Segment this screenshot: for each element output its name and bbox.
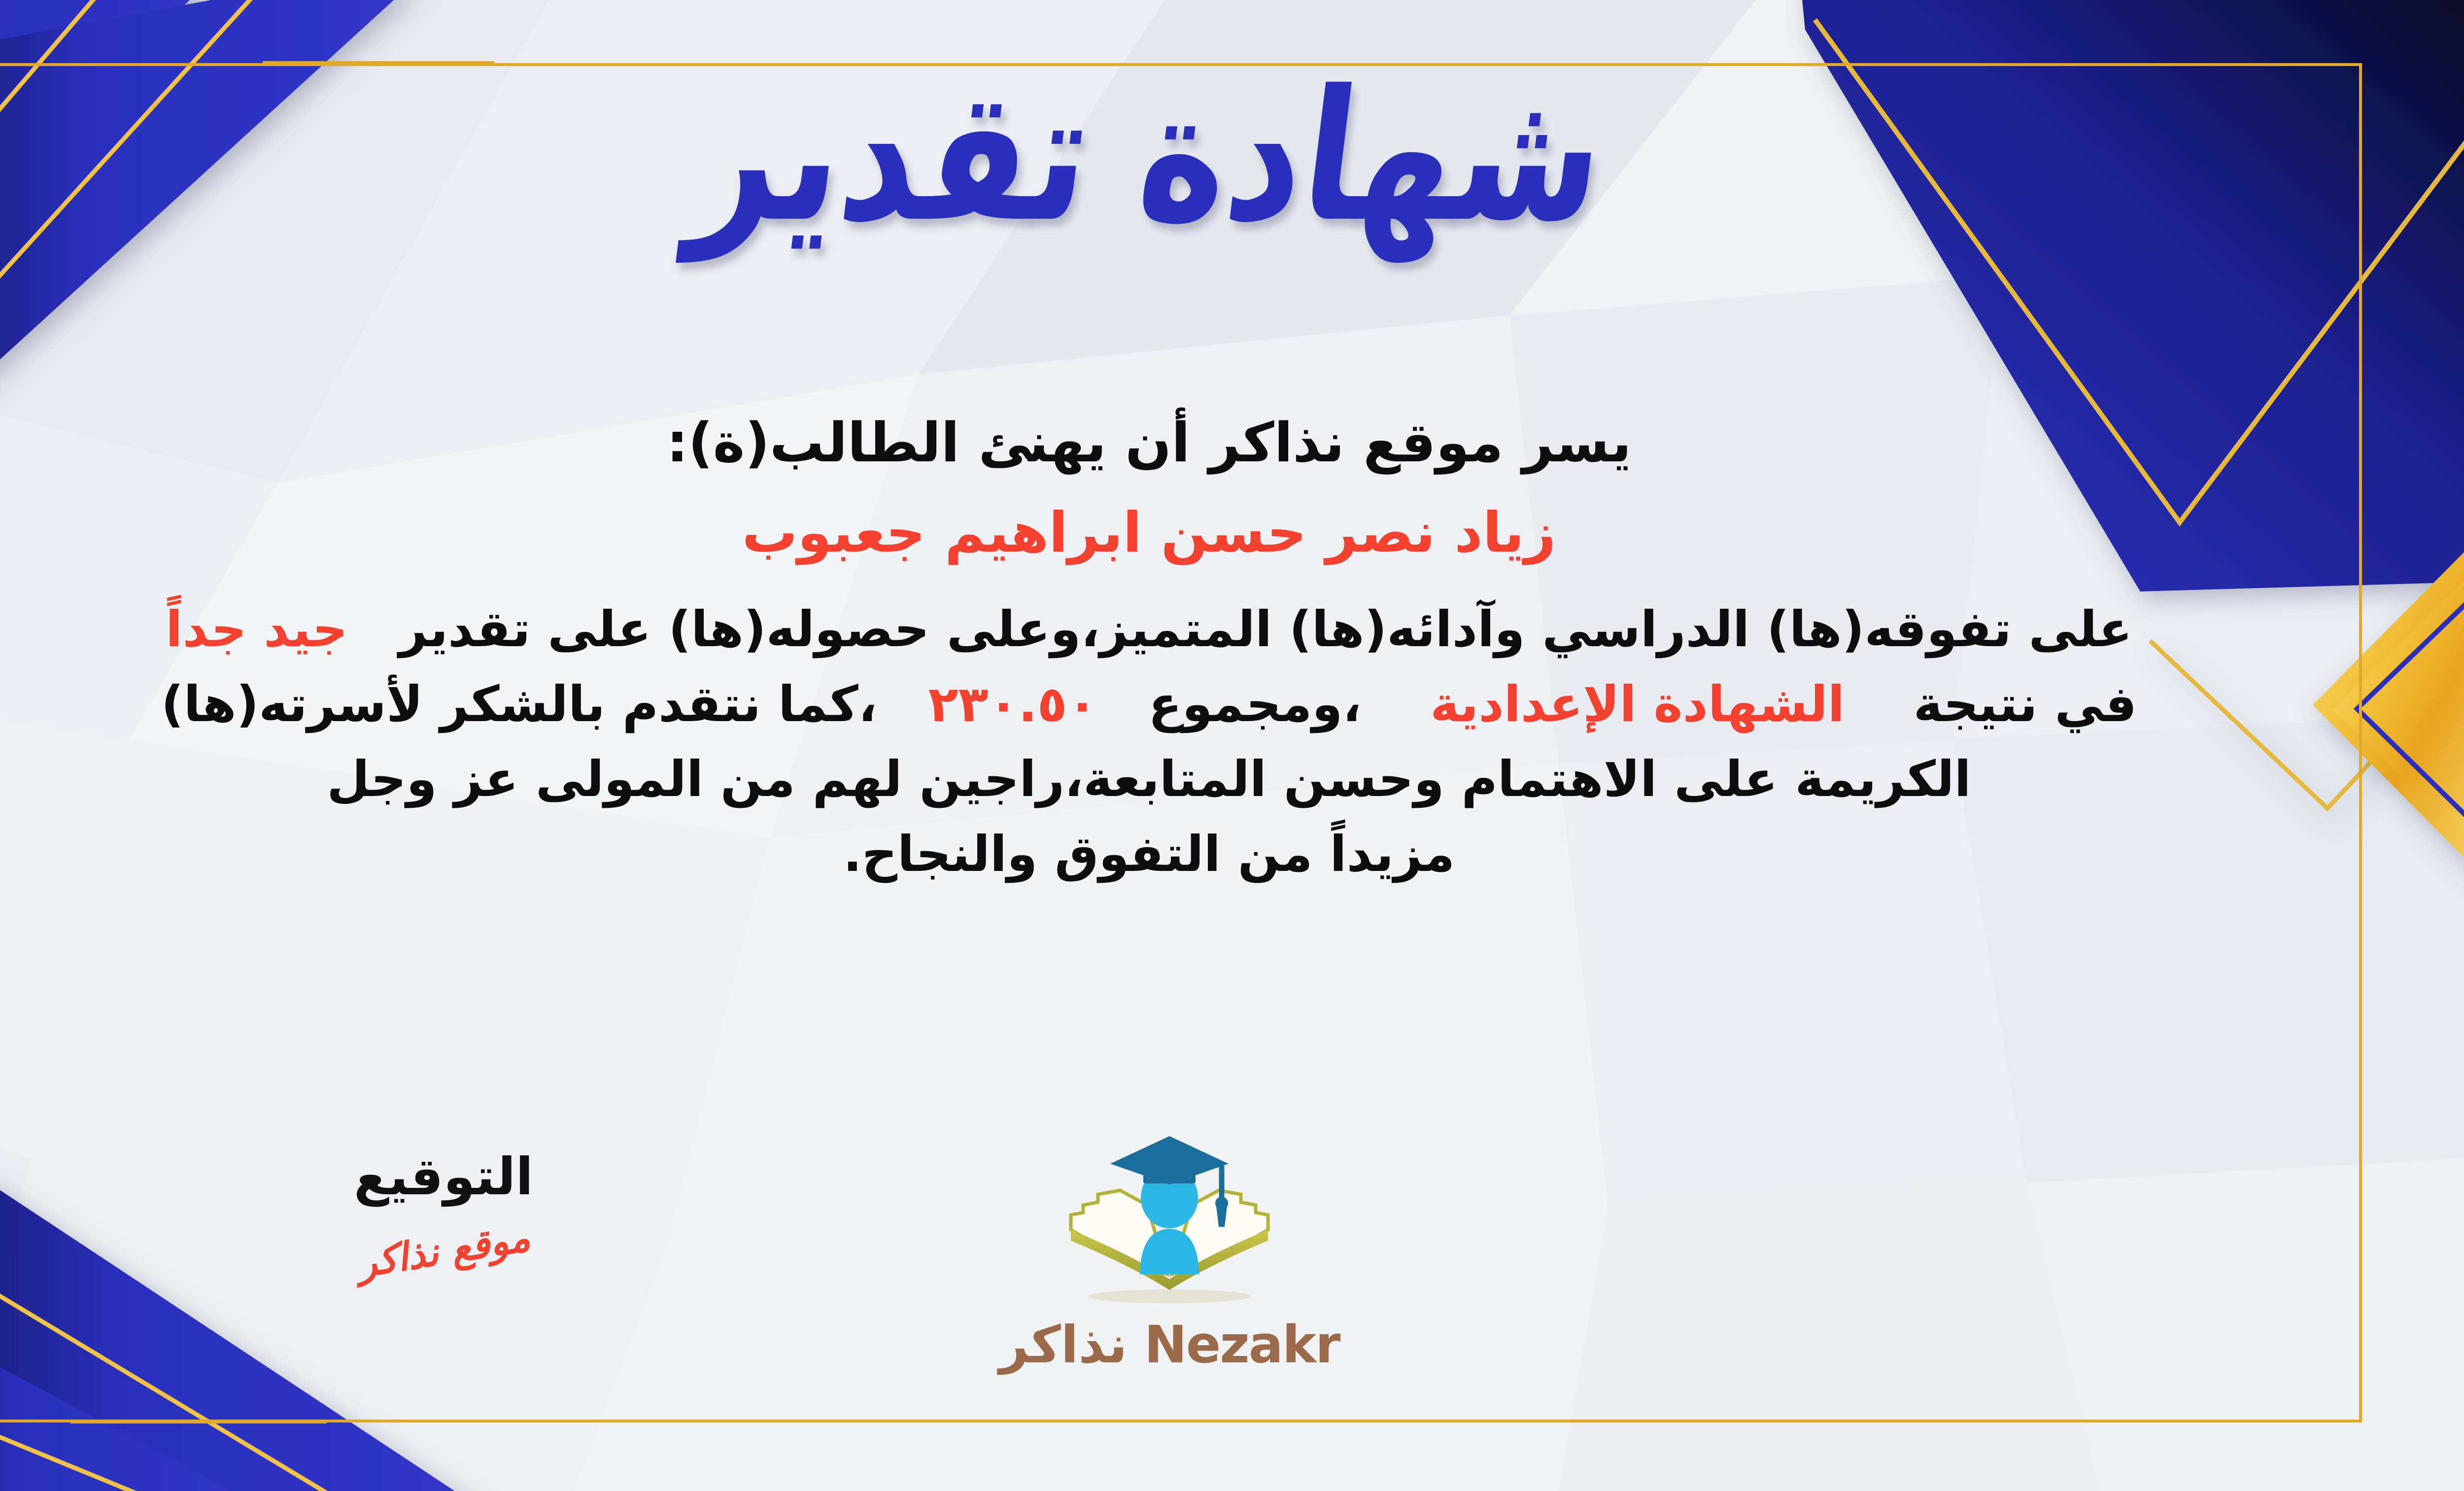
certificate-title: شهادة تقدير [0, 79, 2464, 234]
signature-label: التوقيع [291, 1148, 596, 1205]
student-name: زياد نصر حسن ابراهيم جعبوب [1, 494, 2296, 572]
body-line-family: الكريمة على الاهتمام وحسن المتابعة،راجين… [1, 742, 2296, 817]
brand-logo: Nezakr نذاكر [982, 1131, 1357, 1375]
total-score: ٢٣٠.٥٠ [928, 675, 1097, 733]
certificate-canvas: شهادة تقدير يسر موقع نذاكر أن يهنئ الطال… [0, 0, 2464, 1491]
logo-wordmark: Nezakr نذاكر [982, 1315, 1357, 1375]
grade-value: جيد جداً [166, 600, 348, 658]
body-line-achievement: على تفوقه(ها) الدراسي وآدائه(ها) المتميز… [1, 592, 2296, 667]
greeting-line: يسر موقع نذاكر أن يهنئ الطالب(ة): [1, 404, 2296, 481]
certificate-title-text: شهادة تقدير [684, 62, 1615, 251]
result-prefix: في نتيجة [1914, 675, 2137, 733]
signature-area: التوقيع موقع نذاكر [291, 1148, 596, 1273]
certificate-body: يسر موقع نذاكر أن يهنئ الطالب(ة): زياد ن… [1, 404, 2296, 892]
thanks-prefix: ،كما نتقدم بالشكر لأسرته(ها) [161, 675, 877, 733]
corner-top-left [0, 0, 415, 468]
total-label: ،ومجموع [1148, 675, 1361, 733]
exam-name: الشهادة الإعدادية [1430, 675, 1845, 733]
body-line-result: في نتيجة الشهادة الإعدادية ،ومجموع ٢٣٠.٥… [1, 667, 2296, 742]
body-line-wish: مزيداً من التفوق والنجاح. [1, 817, 2296, 892]
graduate-book-logo-icon [1056, 1131, 1283, 1318]
achievement-text: على تفوقه(ها) الدراسي وآدائه(ها) المتميز… [399, 600, 2132, 658]
